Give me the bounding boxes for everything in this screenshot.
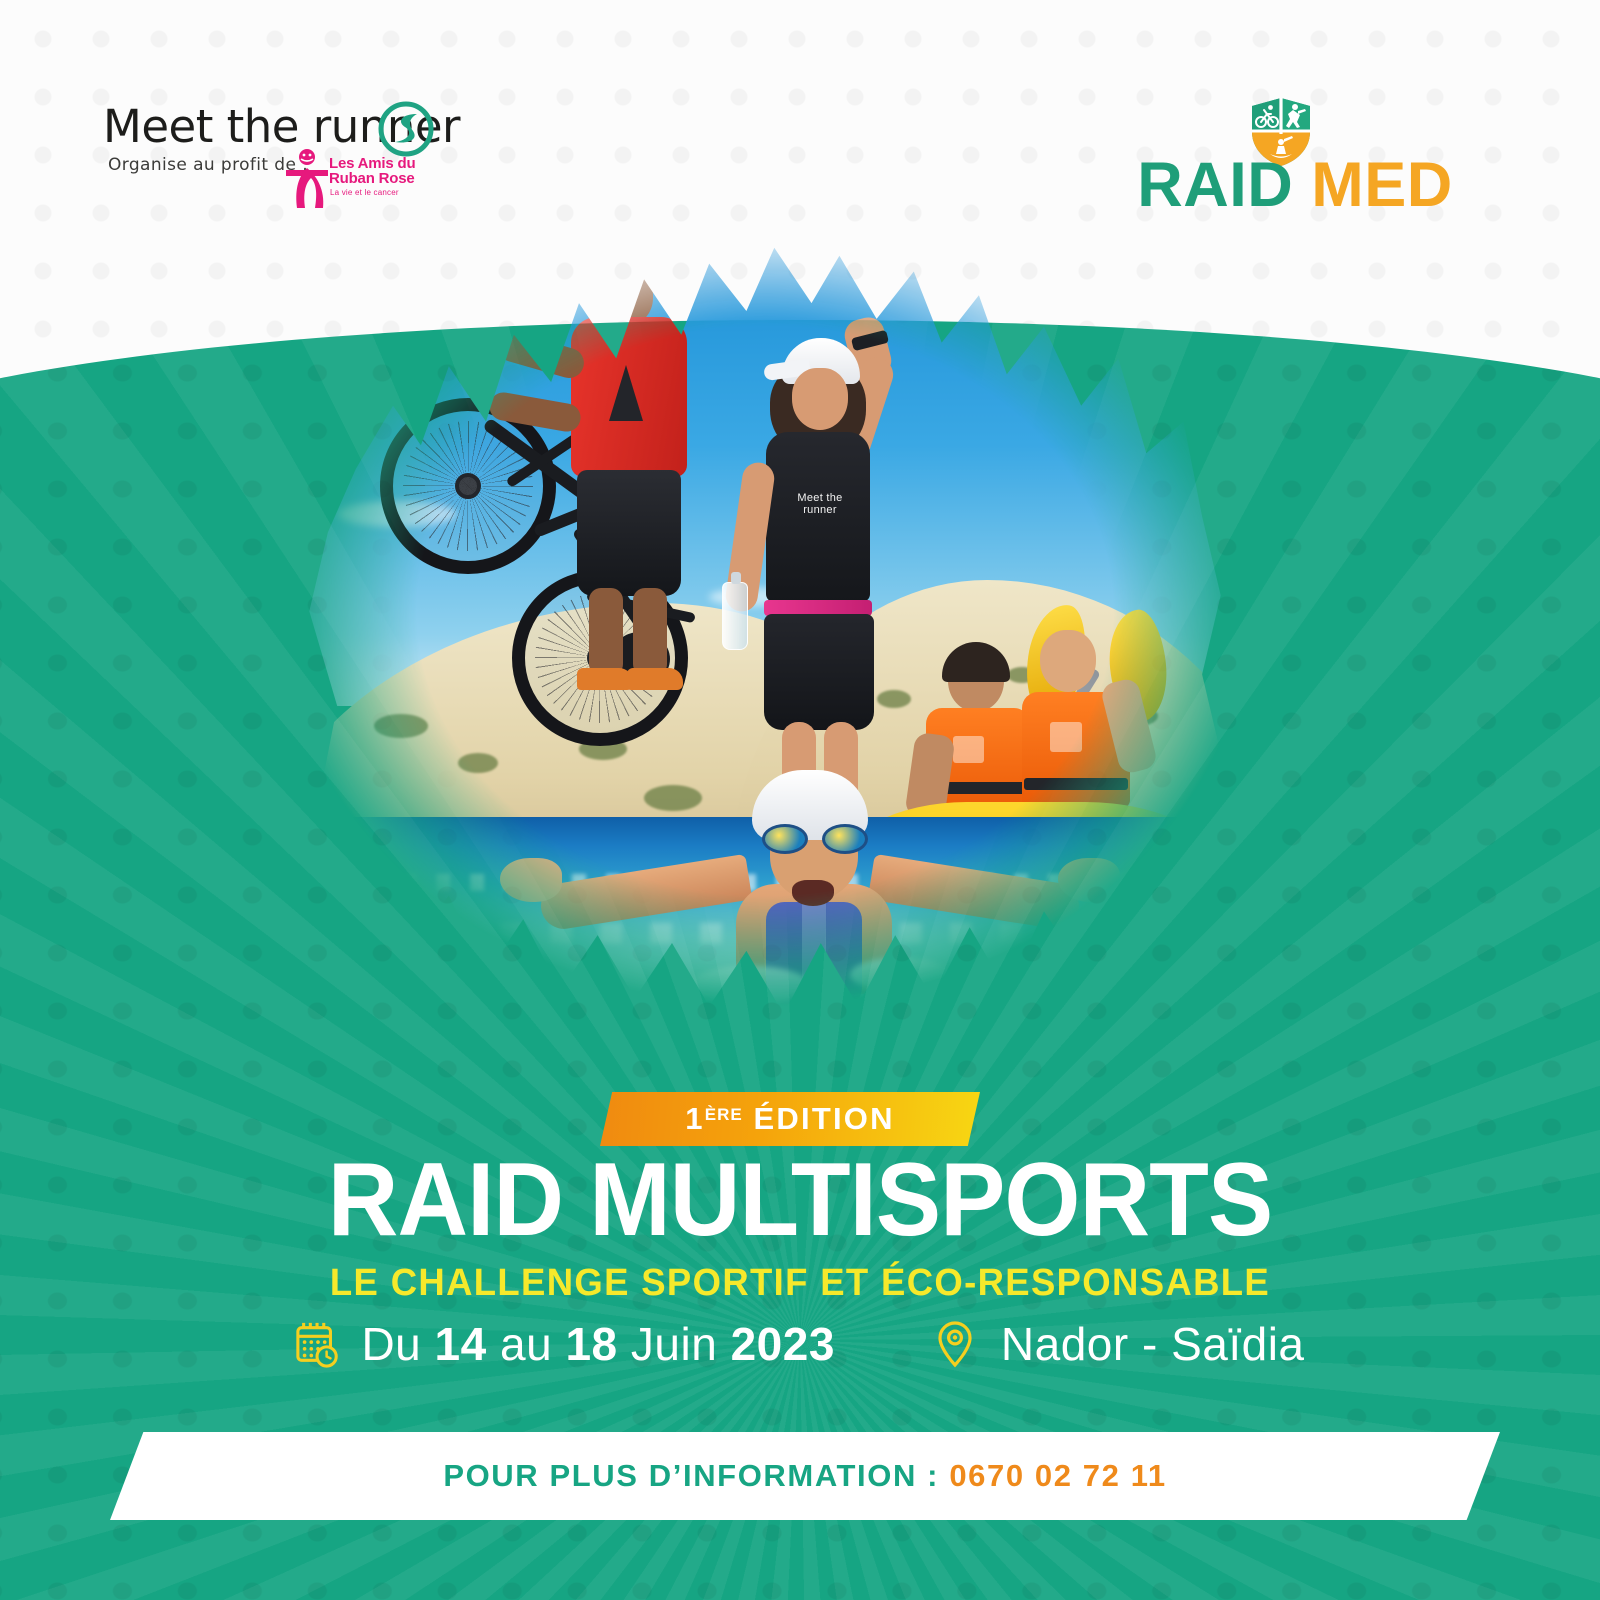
event-logo[interactable]: RAID MED <box>1130 96 1460 216</box>
event-meta-row: Du 14 au 18 Juin 2023 Nador - Saïdia <box>0 1318 1600 1370</box>
swimmer-hand-left <box>500 858 562 902</box>
contact-banner-text: POUR PLUS D’INFORMATION : 0670 02 72 11 <box>443 1458 1166 1494</box>
water-bottle <box>722 582 748 650</box>
hero-photo-collage: Meet the runner <box>300 232 1230 1022</box>
edition-badge-label: 1ÈRE ÉDITION <box>685 1101 894 1137</box>
water-splash <box>850 958 950 992</box>
contact-banner[interactable]: POUR PLUS D’INFORMATION : 0670 02 72 11 <box>110 1432 1500 1520</box>
swimmer-figure <box>530 752 1090 1022</box>
swimmer-goggles <box>762 824 868 854</box>
event-logo-med: MED <box>1293 150 1453 220</box>
calendar-clock-icon <box>295 1319 341 1369</box>
runner-shirt-text: Meet the runner <box>780 492 860 516</box>
swimmer-mouth <box>792 880 834 906</box>
beneficiary-logo[interactable]: Les Amis duRuban Rose La vie et le cance… <box>283 148 408 210</box>
event-date: Du 14 au 18 Juin 2023 <box>295 1318 834 1370</box>
beneficiary-tagline: La vie et le cancer <box>330 188 399 197</box>
swimmer-arm-right <box>868 854 1083 932</box>
contact-label: POUR PLUS D’INFORMATION : <box>443 1458 949 1493</box>
swimmer-arm-left <box>538 854 753 932</box>
cyclist-helmet <box>579 236 675 288</box>
event-logo-wordmark: RAID MED <box>1130 154 1460 217</box>
runner-face <box>792 368 848 430</box>
kayaker-man-hair <box>942 642 1010 682</box>
event-date-text: Du 14 au 18 Juin 2023 <box>361 1318 834 1370</box>
swimmer-hand-right <box>1058 858 1120 902</box>
cyclist-leg <box>589 588 623 676</box>
beneficiary-name: Les Amis duRuban Rose <box>329 156 415 186</box>
hero-photo-splatter-mask: Meet the runner <box>300 232 1230 1022</box>
organizer-subline: Organise au profit de : <box>108 155 308 175</box>
kayaker-woman-head <box>1040 630 1096 692</box>
event-location: Nador - Saïdia <box>935 1318 1305 1370</box>
edition-badge: 1ÈRE ÉDITION <box>600 1092 980 1146</box>
map-pin-icon <box>935 1319 981 1369</box>
cyclist-torso-red-jersey <box>571 317 687 477</box>
cyclist-shorts <box>577 470 681 596</box>
page-subtitle: LE CHALLENGE SPORTIF ET ÉCO-RESPONSABLE <box>32 1262 1568 1304</box>
cyclist-leg <box>633 588 667 676</box>
contact-phone[interactable]: 0670 02 72 11 <box>949 1458 1166 1493</box>
cyclist-shoe <box>627 668 683 690</box>
page-title: RAID MULTISPORTS <box>48 1148 1552 1252</box>
organizer-logo[interactable]: Meet the runner Organise au profit de : … <box>103 103 443 213</box>
cyclist-shoe <box>577 668 633 690</box>
cyclist-figure <box>555 232 730 682</box>
event-logo-raid: RAID <box>1137 150 1293 220</box>
water-splash <box>690 966 810 1006</box>
poster-root: Meet the runner <box>0 0 1600 1600</box>
event-location-text: Nador - Saïdia <box>1001 1318 1305 1370</box>
